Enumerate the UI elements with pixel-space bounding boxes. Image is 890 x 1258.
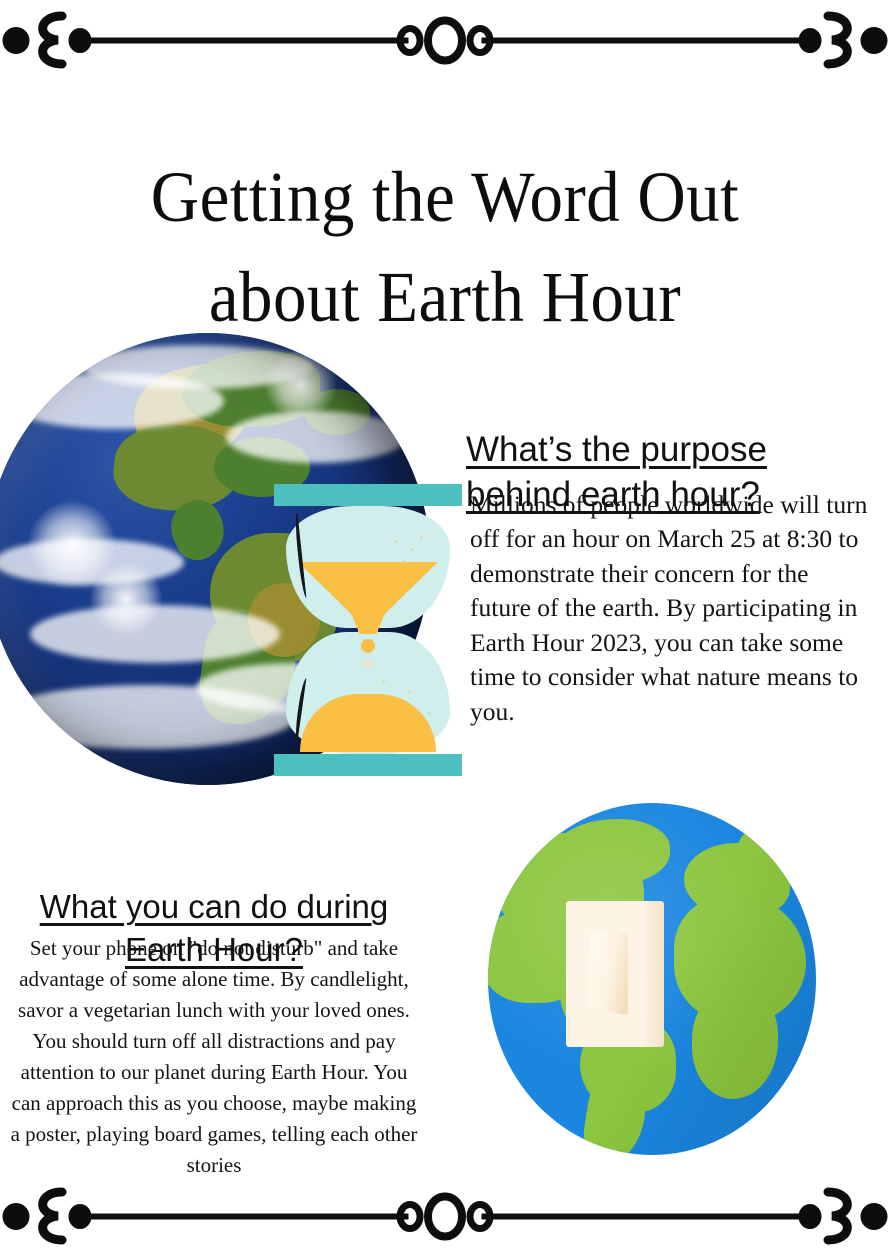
- light-switch-plate[interactable]: [566, 901, 664, 1047]
- page-title: Getting the Word Out about Earth Hour: [31, 148, 859, 347]
- sand-speck: [394, 540, 397, 543]
- hourglass-illustration: [270, 484, 466, 776]
- sand-speck: [428, 712, 431, 715]
- ornamental-divider-top: [0, 4, 890, 76]
- hourglass-cap-bottom: [274, 754, 462, 776]
- ornamental-divider-bottom: [0, 1180, 890, 1252]
- sand-speck: [408, 690, 411, 693]
- paragraph-what-you-can-do: Set your phone on "do not disturb" and t…: [8, 933, 420, 1181]
- sand-speck: [402, 560, 405, 563]
- sand-speck: [382, 680, 385, 683]
- hourglass-sand-droplet-small: [364, 660, 372, 668]
- hourglass-cap-top: [274, 484, 462, 506]
- paragraph-purpose: Millions of people worldwide will turn o…: [470, 488, 868, 730]
- hourglass-sand-droplet: [361, 639, 375, 653]
- sand-speck: [420, 536, 423, 539]
- light-switch-toggle[interactable]: [588, 933, 628, 1015]
- sand-speck: [410, 548, 413, 551]
